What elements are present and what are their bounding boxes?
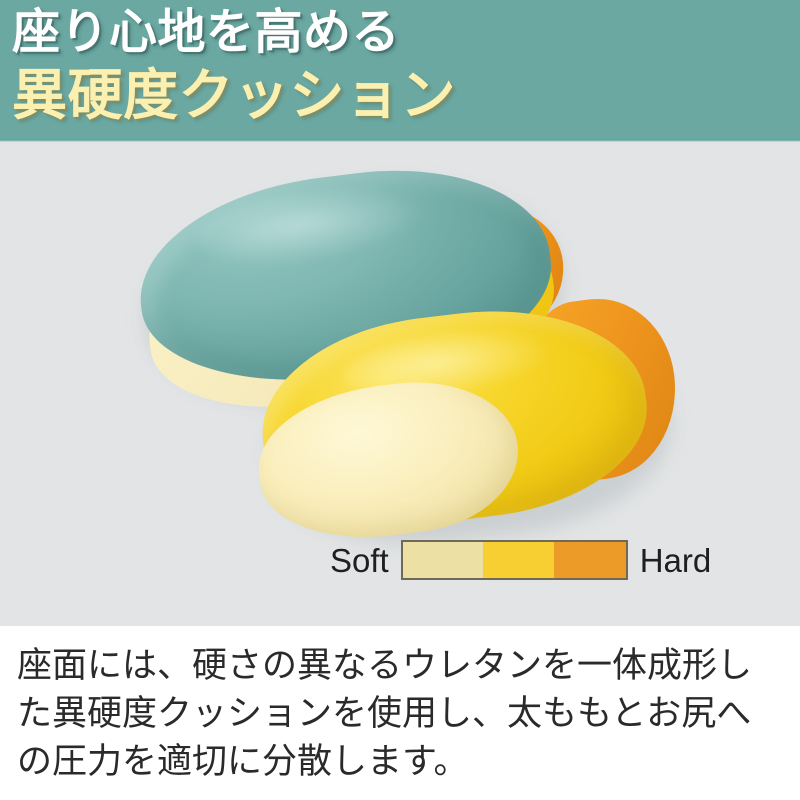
hardness-legend: Soft Hard bbox=[330, 540, 711, 580]
legend-segment-hard bbox=[554, 542, 625, 578]
header-banner: 座り心地を高める 異硬度クッション bbox=[0, 0, 800, 142]
legend-soft-label: Soft bbox=[330, 544, 389, 577]
header-title-line-2: 異硬度クッション bbox=[12, 62, 456, 128]
product-feature-panel: 座り心地を高める 異硬度クッション Soft bbox=[0, 0, 800, 800]
description-block: 座面には、硬さの異なるウレタンを一体成形した異硬度クッションを使用し、太ももとお… bbox=[0, 626, 800, 800]
legend-gradient-bar bbox=[401, 540, 628, 580]
legend-hard-label: Hard bbox=[640, 544, 712, 577]
header-title-line-1: 座り心地を高める bbox=[12, 4, 400, 62]
urethane-foam-core-illustration bbox=[241, 272, 699, 582]
legend-segment-medium bbox=[483, 542, 554, 578]
illustration-panel: Soft Hard bbox=[0, 142, 800, 626]
description-text: 座面には、硬さの異なるウレタンを一体成形した異硬度クッションを使用し、太ももとお… bbox=[17, 642, 784, 786]
legend-segment-soft bbox=[403, 542, 483, 578]
